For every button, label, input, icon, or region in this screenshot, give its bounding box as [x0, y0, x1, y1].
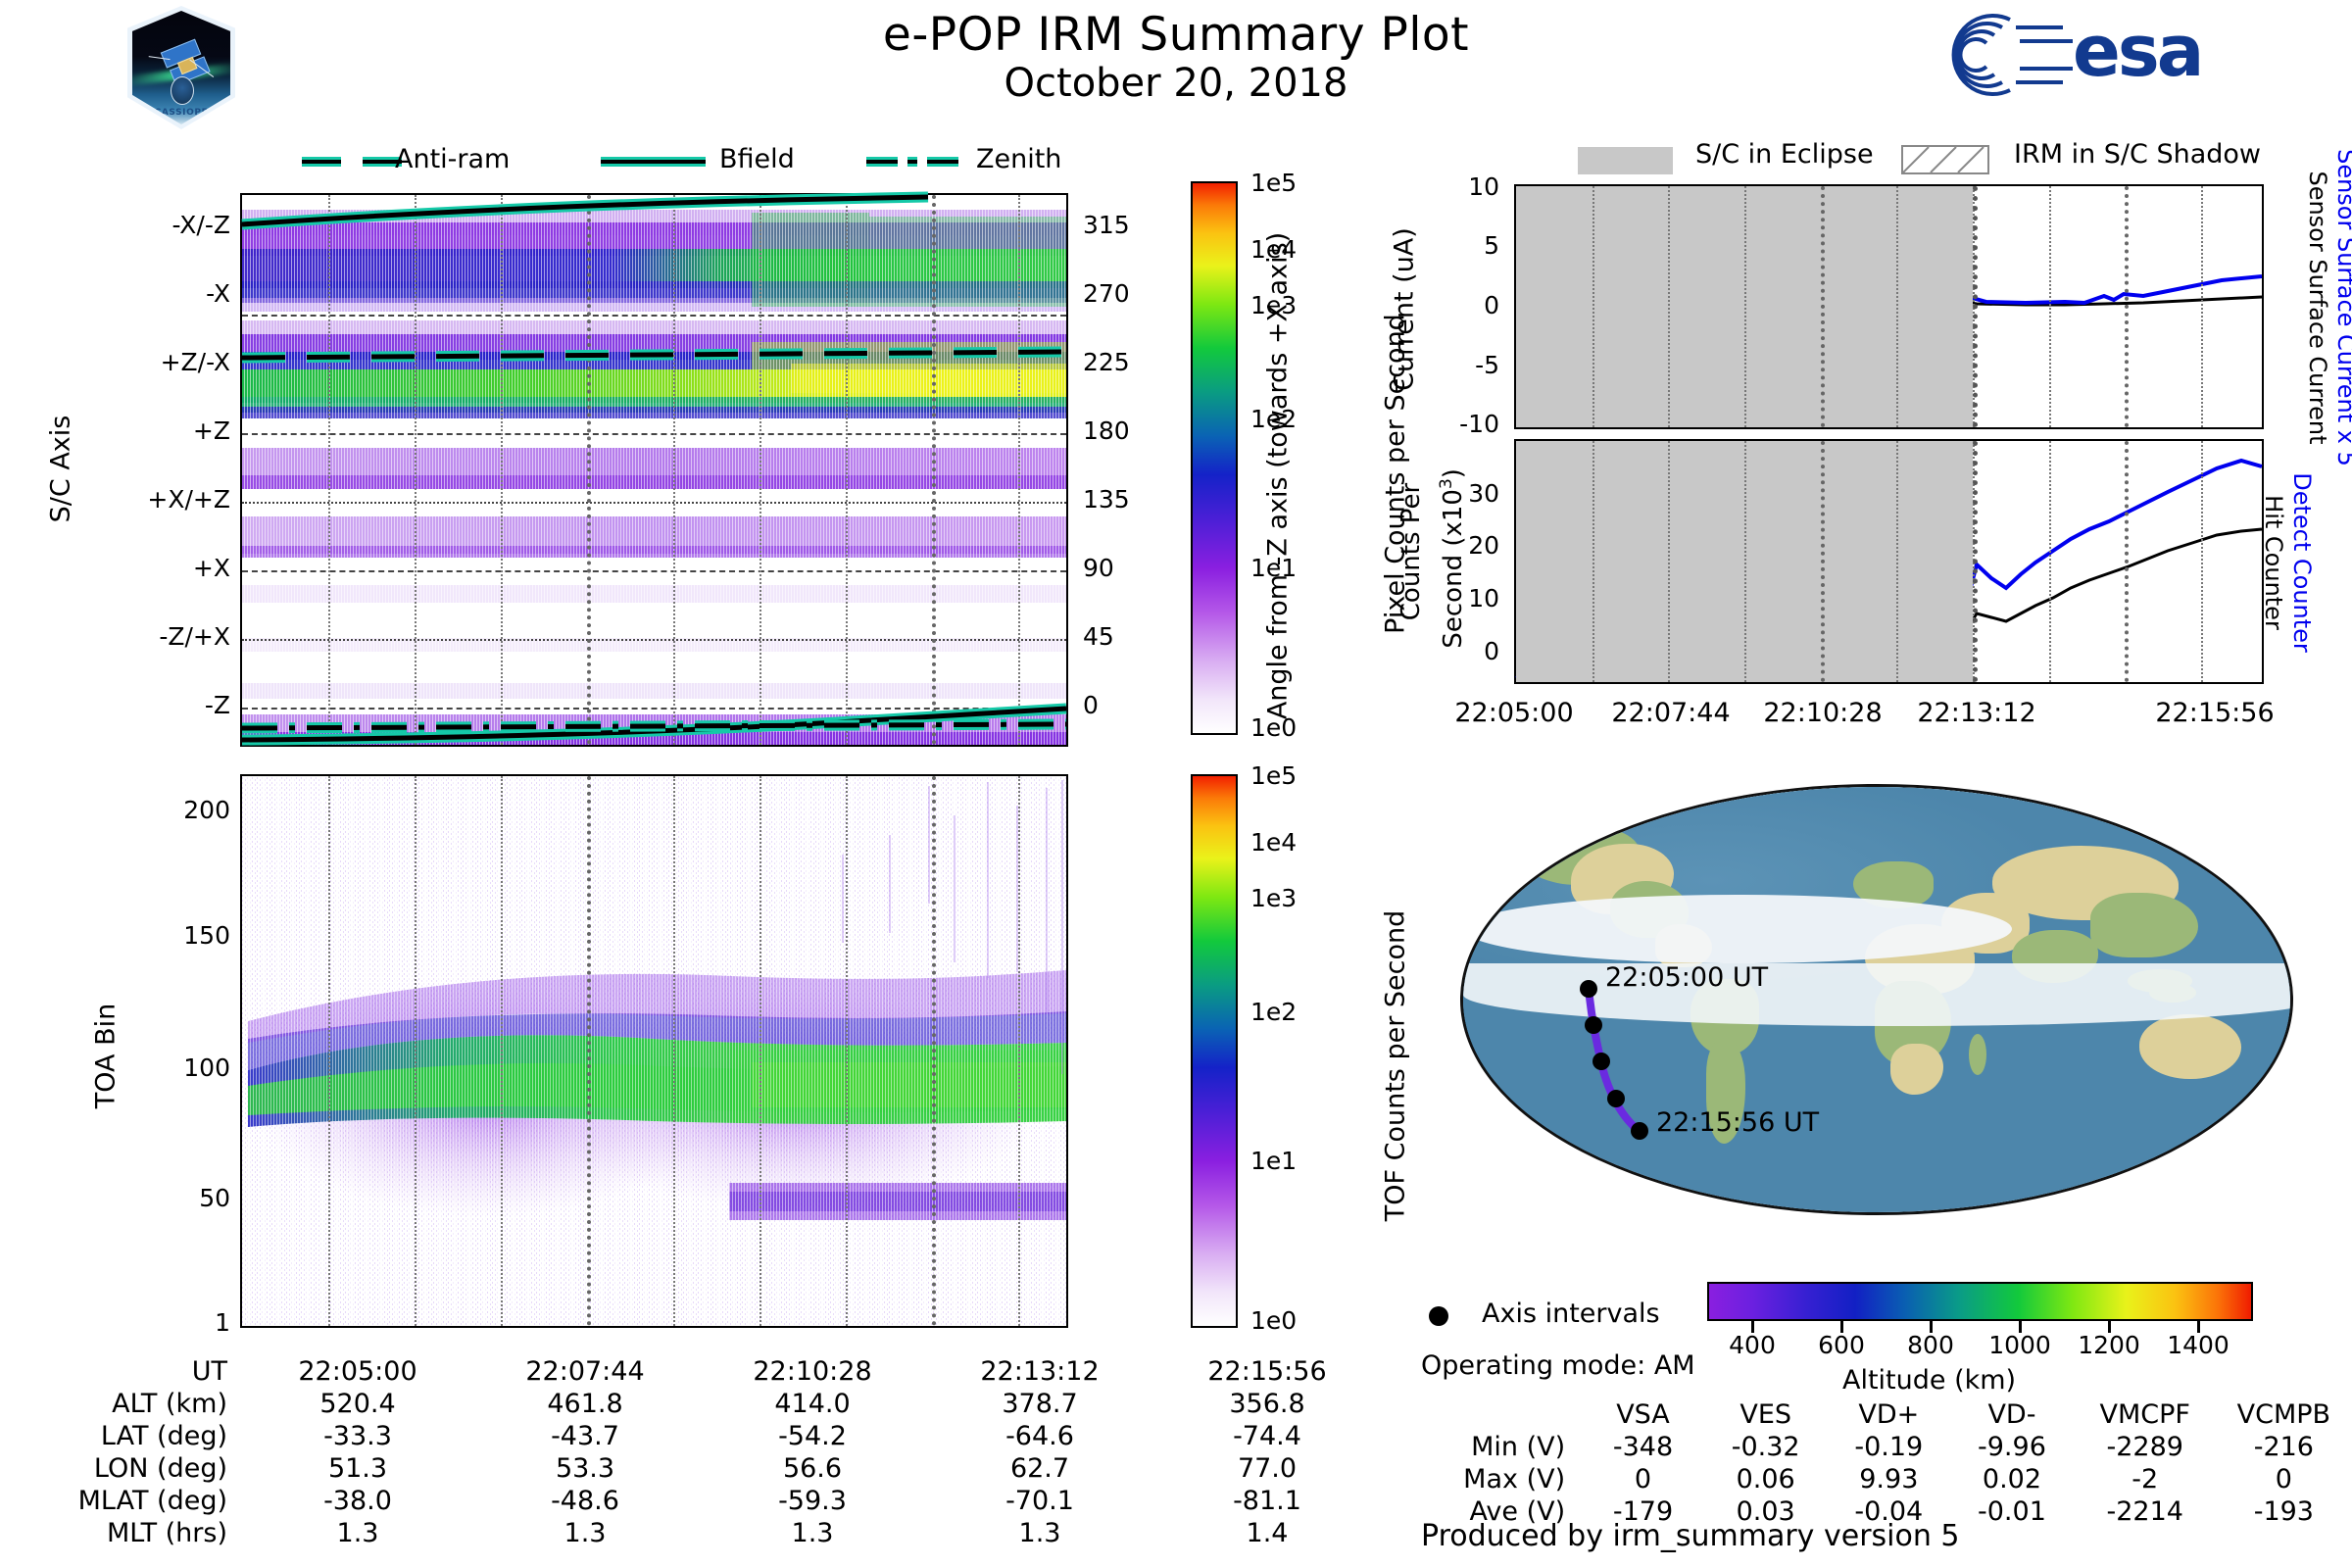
row-label-mlt: MLT (hrs)	[41, 1518, 243, 1548]
voltage-table: VSA VES VD+ VD- VMCPF VCMPB Min (V) -348…	[1421, 1397, 2352, 1529]
table-row: MLT (hrs) 1.3 1.3 1.3 1.3 1.4	[41, 1518, 1380, 1548]
spec-angle-tick-7: 0	[1083, 691, 1099, 719]
legend-swatch-zenith-a	[866, 157, 898, 167]
axis-intervals-label: Axis intervals	[1482, 1298, 1660, 1329]
cell-mlat-1: -48.6	[472, 1486, 698, 1516]
cell-lon-4: 77.0	[1154, 1453, 1380, 1484]
altitude-colorbar	[1707, 1282, 2253, 1321]
cell-lon-1: 53.3	[472, 1453, 698, 1484]
cb2-tick-1e3: 1e3	[1250, 884, 1297, 912]
track-end-label: 22:15:56 UT	[1656, 1107, 1819, 1138]
cur-ytick-0: 0	[1441, 291, 1499, 319]
cb2-tick-1e4: 1e4	[1250, 828, 1297, 857]
cell-ut-4: 22:15:56	[1154, 1356, 1380, 1387]
legend-label-irm-shadow: IRM in S/C Shadow	[2014, 139, 2261, 170]
volt-min-vdminus: -9.96	[1951, 1432, 2073, 1462]
cell-mlat-2: -59.3	[700, 1486, 925, 1516]
track-marker	[1607, 1090, 1625, 1107]
cell-mlt-1: 1.3	[472, 1518, 698, 1548]
counts-ylabel-line1: Counts Per	[1396, 434, 1426, 669]
cb2-tick-1e0: 1e0	[1250, 1306, 1297, 1335]
operating-mode: Operating mode: AM	[1421, 1350, 1695, 1381]
cell-lat-4: -74.4	[1154, 1421, 1380, 1451]
legend-swatch-anti-ram	[302, 157, 341, 167]
cell-mlat-3: -70.1	[927, 1486, 1152, 1516]
table-row: Min (V) -348 -0.32 -0.19 -9.96 -2289 -21…	[1423, 1432, 2350, 1462]
produced-by: Produced by irm_summary version 5	[1421, 1519, 1959, 1553]
volt-col-vdminus: VD-	[1951, 1399, 2073, 1430]
cur-ytick-10: 10	[1441, 172, 1499, 201]
tof-ytick-50: 50	[78, 1184, 230, 1212]
counts-right-label-black: Hit Counter	[2260, 401, 2287, 724]
spec-ytick-5: +X	[59, 554, 230, 582]
legend-label-bfield: Bfield	[719, 144, 795, 174]
cur-ytick-m10: -10	[1421, 410, 1499, 438]
cur-ytick-m5: -5	[1429, 351, 1499, 379]
alt-cb-tick-800: 800	[1886, 1331, 1976, 1359]
ground-track	[1463, 787, 2290, 1212]
spec-ytick-2: +Z/-X	[59, 348, 230, 376]
volt-col-vsa: VSA	[1583, 1399, 1703, 1430]
track-marker-start	[1580, 980, 1597, 998]
spec-angle-tick-1: 270	[1083, 279, 1130, 308]
esa-logo: esa	[1926, 8, 2298, 101]
cell-mlt-4: 1.4	[1154, 1518, 1380, 1548]
tof-ytick-200: 200	[78, 796, 230, 824]
current-plot	[1514, 184, 2264, 429]
volt-ave-vmcpf: -2214	[2075, 1496, 2216, 1527]
table-row: LAT (deg) -33.3 -43.7 -54.2 -64.6 -74.4	[41, 1421, 1380, 1451]
cell-mlt-3: 1.3	[927, 1518, 1152, 1548]
row-label-mlat: MLAT (deg)	[41, 1486, 243, 1516]
volt-min-vdplus: -0.19	[1829, 1432, 1950, 1462]
cur-ytick-5: 5	[1441, 231, 1499, 260]
tof-ytick-150: 150	[78, 921, 230, 950]
cell-alt-4: 356.8	[1154, 1389, 1380, 1419]
pixel-counts-colorbar	[1191, 181, 1238, 735]
spec-angle-tick-2: 225	[1083, 348, 1130, 376]
track-marker	[1592, 1053, 1610, 1070]
spec-ytick-7: -Z	[59, 691, 230, 719]
table-row: LON (deg) 51.3 53.3 56.6 62.7 77.0	[41, 1453, 1380, 1484]
legend-swatch-zenith-c	[927, 157, 958, 167]
cell-mlt-0: 1.3	[245, 1518, 470, 1548]
spec-angle-tick-6: 45	[1083, 622, 1114, 651]
tof-counts-colorbar-label: TOF Counts per Second	[1381, 860, 1411, 1272]
cb1-tick-1e4: 1e4	[1250, 235, 1297, 264]
spec-ytick-3: +Z	[59, 416, 230, 445]
tof-ylabel: TOA Bin	[91, 968, 122, 1145]
volt-corner-blank	[1423, 1399, 1581, 1430]
cell-alt-1: 461.8	[472, 1389, 698, 1419]
cb1-tick-1e0: 1e0	[1250, 713, 1297, 742]
cassiope-mission-patch-icon: CASSIOPE	[127, 6, 235, 129]
world-map: 22:05:00 UT 22:15:56 UT	[1460, 784, 2293, 1215]
volt-col-vmcpf: VMCPF	[2075, 1399, 2216, 1430]
cb2-tick-1e2: 1e2	[1250, 998, 1297, 1026]
legend-label-zenith: Zenith	[976, 144, 1061, 174]
cell-ut-2: 22:10:28	[700, 1356, 925, 1387]
volt-row-min-label: Min (V)	[1423, 1432, 1581, 1462]
tof-plot	[240, 774, 1068, 1328]
cb1-tick-1e3: 1e3	[1250, 291, 1297, 319]
esa-wordmark: esa	[2073, 10, 2201, 92]
volt-min-vmcpf: -2289	[2075, 1432, 2216, 1462]
spec-angle-tick-4: 135	[1083, 485, 1130, 514]
volt-min-ves: -0.32	[1705, 1432, 1827, 1462]
legend-swatch-zenith-b	[907, 157, 917, 167]
spectrogram-plot	[240, 193, 1068, 747]
volt-max-vsa: 0	[1583, 1464, 1703, 1494]
cell-ut-0: 22:05:00	[245, 1356, 470, 1387]
spec-ytick-6: -Z/+X	[59, 622, 230, 651]
table-row: UT 22:05:00 22:07:44 22:10:28 22:13:12 2…	[41, 1356, 1380, 1387]
row-label-alt: ALT (km)	[41, 1389, 243, 1419]
row-label-lat: LAT (deg)	[41, 1421, 243, 1451]
cell-ut-1: 22:07:44	[472, 1356, 698, 1387]
legend-swatch-eclipse	[1578, 147, 1673, 174]
cb1-tick-1e5: 1e5	[1250, 169, 1297, 197]
spec-angle-tick-0: 315	[1083, 211, 1130, 239]
tof-counts-colorbar	[1191, 774, 1238, 1328]
patch-label: CASSIOPE	[132, 108, 230, 118]
track-marker-end	[1631, 1122, 1648, 1140]
spec-ylabel-right: Angle from -Z axis (towards +X axis)	[1263, 202, 1294, 751]
volt-max-ves: 0.06	[1705, 1464, 1827, 1494]
cell-mlt-2: 1.3	[700, 1518, 925, 1548]
cell-ut-3: 22:13:12	[927, 1356, 1152, 1387]
alt-cb-tick-1200: 1200	[2064, 1331, 2154, 1359]
cell-lon-2: 56.6	[700, 1453, 925, 1484]
legend-label-anti-ram: Anti-ram	[395, 144, 510, 174]
cell-alt-2: 414.0	[700, 1389, 925, 1419]
volt-col-vcmpb: VCMPB	[2218, 1399, 2350, 1430]
volt-ave-vcmpb: -193	[2218, 1496, 2350, 1527]
current-ylabel: Current (uA)	[1390, 197, 1420, 422]
row-label-ut: UT	[41, 1356, 243, 1387]
volt-row-max-label: Max (V)	[1423, 1464, 1581, 1494]
axis-intervals-dot-icon	[1426, 1303, 1451, 1329]
altitude-colorbar-label: Altitude (km)	[1842, 1365, 2016, 1396]
legend-swatch-bfield	[601, 157, 706, 167]
counts-right-label-blue: Detect Counter	[2288, 401, 2316, 724]
track-start-label: 22:05:00 UT	[1605, 962, 1768, 993]
tof-canvas	[242, 776, 1066, 1326]
cell-mlat-0: -38.0	[245, 1486, 470, 1516]
spec-ytick-0: -X/-Z	[59, 211, 230, 239]
spec-ytick-1: -X	[59, 279, 230, 308]
current-right-label-blue: Sensor Surface Current x 5	[2332, 102, 2352, 514]
spec-angle-tick-5: 90	[1083, 554, 1114, 582]
cell-lon-3: 62.7	[927, 1453, 1152, 1484]
table-row: ALT (km) 520.4 461.8 414.0 378.7 356.8	[41, 1389, 1380, 1419]
alt-cb-tick-1000: 1000	[1975, 1331, 2065, 1359]
spec-ylabel-left: S/C Axis	[46, 371, 76, 567]
cell-lat-2: -54.2	[700, 1421, 925, 1451]
counts-ylabel-line2: Second (x103)	[1437, 436, 1468, 681]
row-label-lon: LON (deg)	[41, 1453, 243, 1484]
volt-ave-vdminus: -0.01	[1951, 1496, 2073, 1527]
track-marker	[1585, 1016, 1602, 1034]
table-row: Max (V) 0 0.06 9.93 0.02 -2 0	[1423, 1464, 2350, 1494]
cb2-tick-1e1: 1e1	[1250, 1147, 1297, 1175]
legend-label-eclipse: S/C in Eclipse	[1695, 139, 1874, 170]
volt-min-vsa: -348	[1583, 1432, 1703, 1462]
cell-lat-0: -33.3	[245, 1421, 470, 1451]
cb1-tick-1e2: 1e2	[1250, 405, 1297, 433]
cell-lat-3: -64.6	[927, 1421, 1152, 1451]
cb2-tick-1e5: 1e5	[1250, 761, 1297, 790]
cell-lat-1: -43.7	[472, 1421, 698, 1451]
ts-xtick-0: 22:05:00	[1431, 698, 1597, 728]
spec-ytick-4: +X/+Z	[59, 485, 230, 514]
tof-ytick-1: 1	[78, 1308, 230, 1337]
volt-max-vdplus: 9.93	[1829, 1464, 1950, 1494]
volt-max-vmcpf: -2	[2075, 1464, 2216, 1494]
spec-angle-tick-3: 180	[1083, 416, 1130, 445]
volt-max-vdminus: 0.02	[1951, 1464, 2073, 1494]
cell-alt-0: 520.4	[245, 1389, 470, 1419]
ts-xtick-4: 22:15:56	[2131, 698, 2298, 728]
volt-col-vdplus: VD+	[1829, 1399, 1950, 1430]
table-row-header: VSA VES VD+ VD- VMCPF VCMPB	[1423, 1399, 2350, 1430]
cell-mlat-4: -81.1	[1154, 1486, 1380, 1516]
volt-col-ves: VES	[1705, 1399, 1827, 1430]
legend-swatch-irm-shadow	[1901, 145, 1989, 174]
ts-xtick-2: 22:10:28	[1739, 698, 1906, 728]
alt-cb-tick-400: 400	[1707, 1331, 1797, 1359]
cell-lon-0: 51.3	[245, 1453, 470, 1484]
ts-xtick-3: 22:13:12	[1893, 698, 2060, 728]
spectrogram-overlay-traces	[242, 195, 1066, 745]
table-row: MLAT (deg) -38.0 -48.6 -59.3 -70.1 -81.1	[41, 1486, 1380, 1516]
ephemeris-table: UT 22:05:00 22:07:44 22:10:28 22:13:12 2…	[39, 1354, 1382, 1550]
ts-xtick-1: 22:07:44	[1588, 698, 1754, 728]
volt-min-vcmpb: -216	[2218, 1432, 2350, 1462]
map-canvas	[1460, 784, 2293, 1215]
volt-max-vcmpb: 0	[2218, 1464, 2350, 1494]
cell-alt-3: 378.7	[927, 1389, 1152, 1419]
counts-plot	[1514, 439, 2264, 684]
alt-cb-tick-600: 600	[1796, 1331, 1886, 1359]
cb1-tick-1e1: 1e1	[1250, 554, 1297, 582]
alt-cb-tick-1400: 1400	[2153, 1331, 2243, 1359]
